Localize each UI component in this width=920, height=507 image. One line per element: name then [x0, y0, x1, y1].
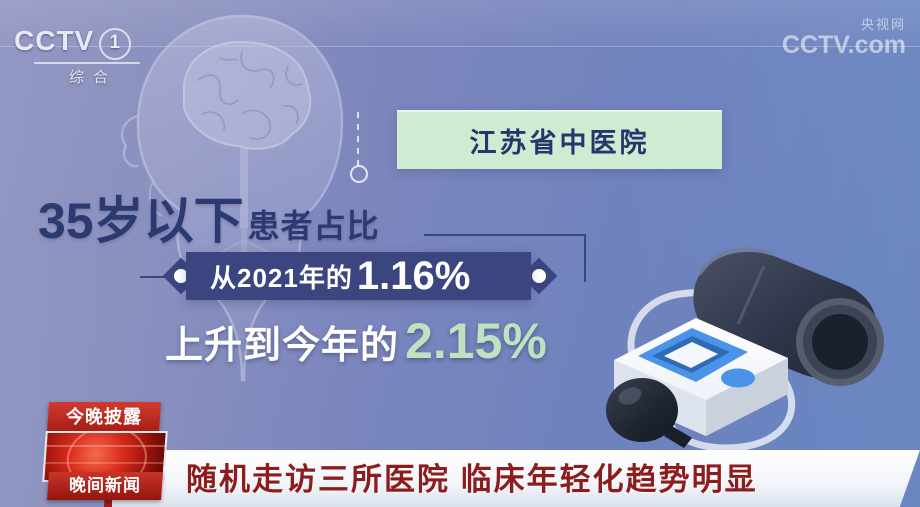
channel-sublabel: 综合 [14, 66, 154, 87]
channel-bug: CCTV1 综合 [14, 26, 154, 82]
stat-headline-age: 35岁以下 [38, 196, 244, 246]
stat-line-current: 上升到今年的 2.15% [165, 312, 547, 370]
callout-leader-line [357, 112, 359, 167]
stat-line-value: 2.15% [405, 312, 547, 370]
cctv-wordmark: CCTV1 [14, 26, 154, 60]
stat-headline: 35岁以下 患者占比 [38, 196, 380, 246]
site-watermark: 央视网 CCTV.com [782, 18, 906, 58]
blood-pressure-monitor-icon [588, 232, 920, 464]
channel-divider [34, 62, 140, 64]
hospital-label-box: 江苏省中医院 [397, 110, 722, 169]
callout-leader-dot [350, 165, 368, 183]
program-bug: 今晚披露 晚间新闻 [40, 400, 170, 504]
stat-bar-2021: 从2021年的 1.16% [186, 252, 531, 300]
globe-parallel-2 [42, 462, 168, 464]
lower-third: 随机走访三所医院 临床年轻化趋势明显 今晚披露 晚间新闻 [0, 447, 920, 507]
lower-third-headline: 随机走访三所医院 临床年轻化趋势明显 [186, 454, 758, 499]
cctv-text: CCTV [14, 25, 94, 56]
globe-parallel-1 [42, 445, 168, 447]
stat-bar-prefix: 从2021年的 [210, 258, 353, 295]
program-tag-box: 今晚披露 [47, 402, 161, 432]
channel-number: 1 [99, 28, 131, 60]
watermark-cn: 央视网 [782, 18, 906, 32]
watermark-url: CCTV.com [782, 32, 906, 58]
stat-headline-metric: 患者占比 [248, 206, 380, 246]
stat-line-prefix: 上升到今年的 [165, 314, 399, 369]
program-tag-text: 今晚披露 [48, 402, 160, 432]
hospital-label-text: 江苏省中医院 [470, 121, 650, 160]
program-name-text: 晚间新闻 [48, 472, 162, 500]
stat-bar-value: 1.16% [357, 254, 470, 299]
program-name-box: 晚间新闻 [47, 472, 163, 500]
broadcast-frame: CCTV1 综合 央视网 CCTV.com 江苏省中医院 35岁以下 患者占比 … [0, 0, 920, 507]
